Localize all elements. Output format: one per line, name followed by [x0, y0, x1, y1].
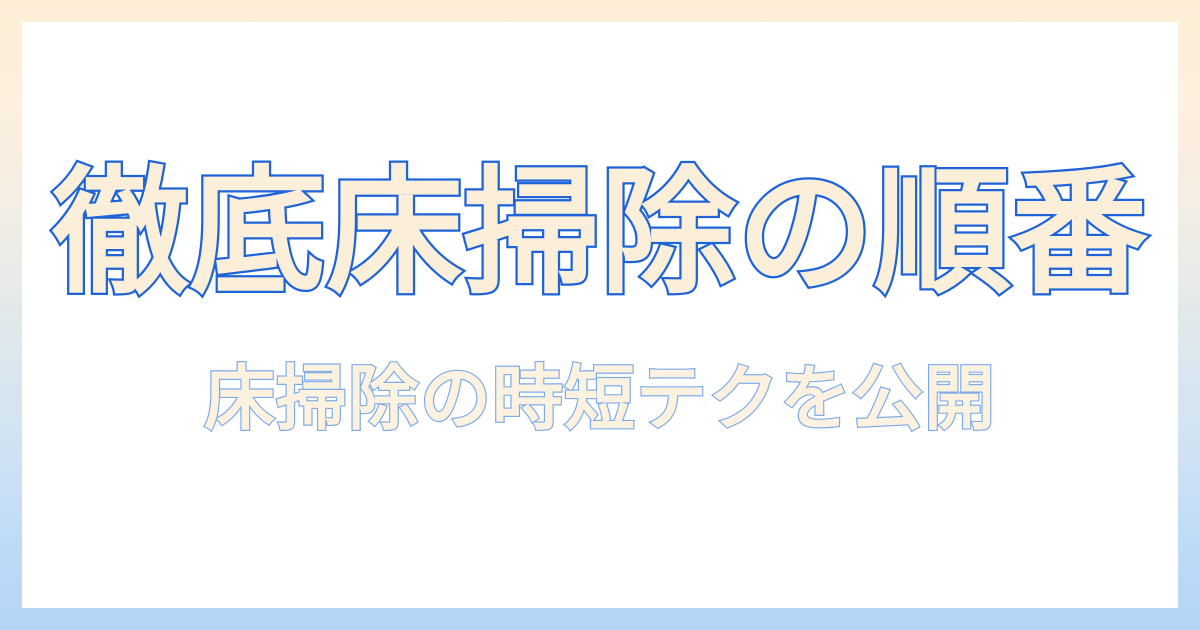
content-panel: 徹底床掃除の順番 床掃除の時短テクを公開: [22, 22, 1178, 608]
text-stack: 徹底床掃除の順番 床掃除の時短テクを公開: [22, 22, 1178, 608]
headline-row: 徹底床掃除の順番: [52, 149, 1148, 319]
thumbnail-card: 徹底床掃除の順番 床掃除の時短テクを公開: [0, 0, 1200, 630]
subheadline-text: 床掃除の時短テクを公開: [204, 363, 996, 435]
headline-title: 徹底床掃除の順番: [52, 164, 1148, 304]
subheadline-row: 床掃除の時短テクを公開: [204, 353, 996, 445]
